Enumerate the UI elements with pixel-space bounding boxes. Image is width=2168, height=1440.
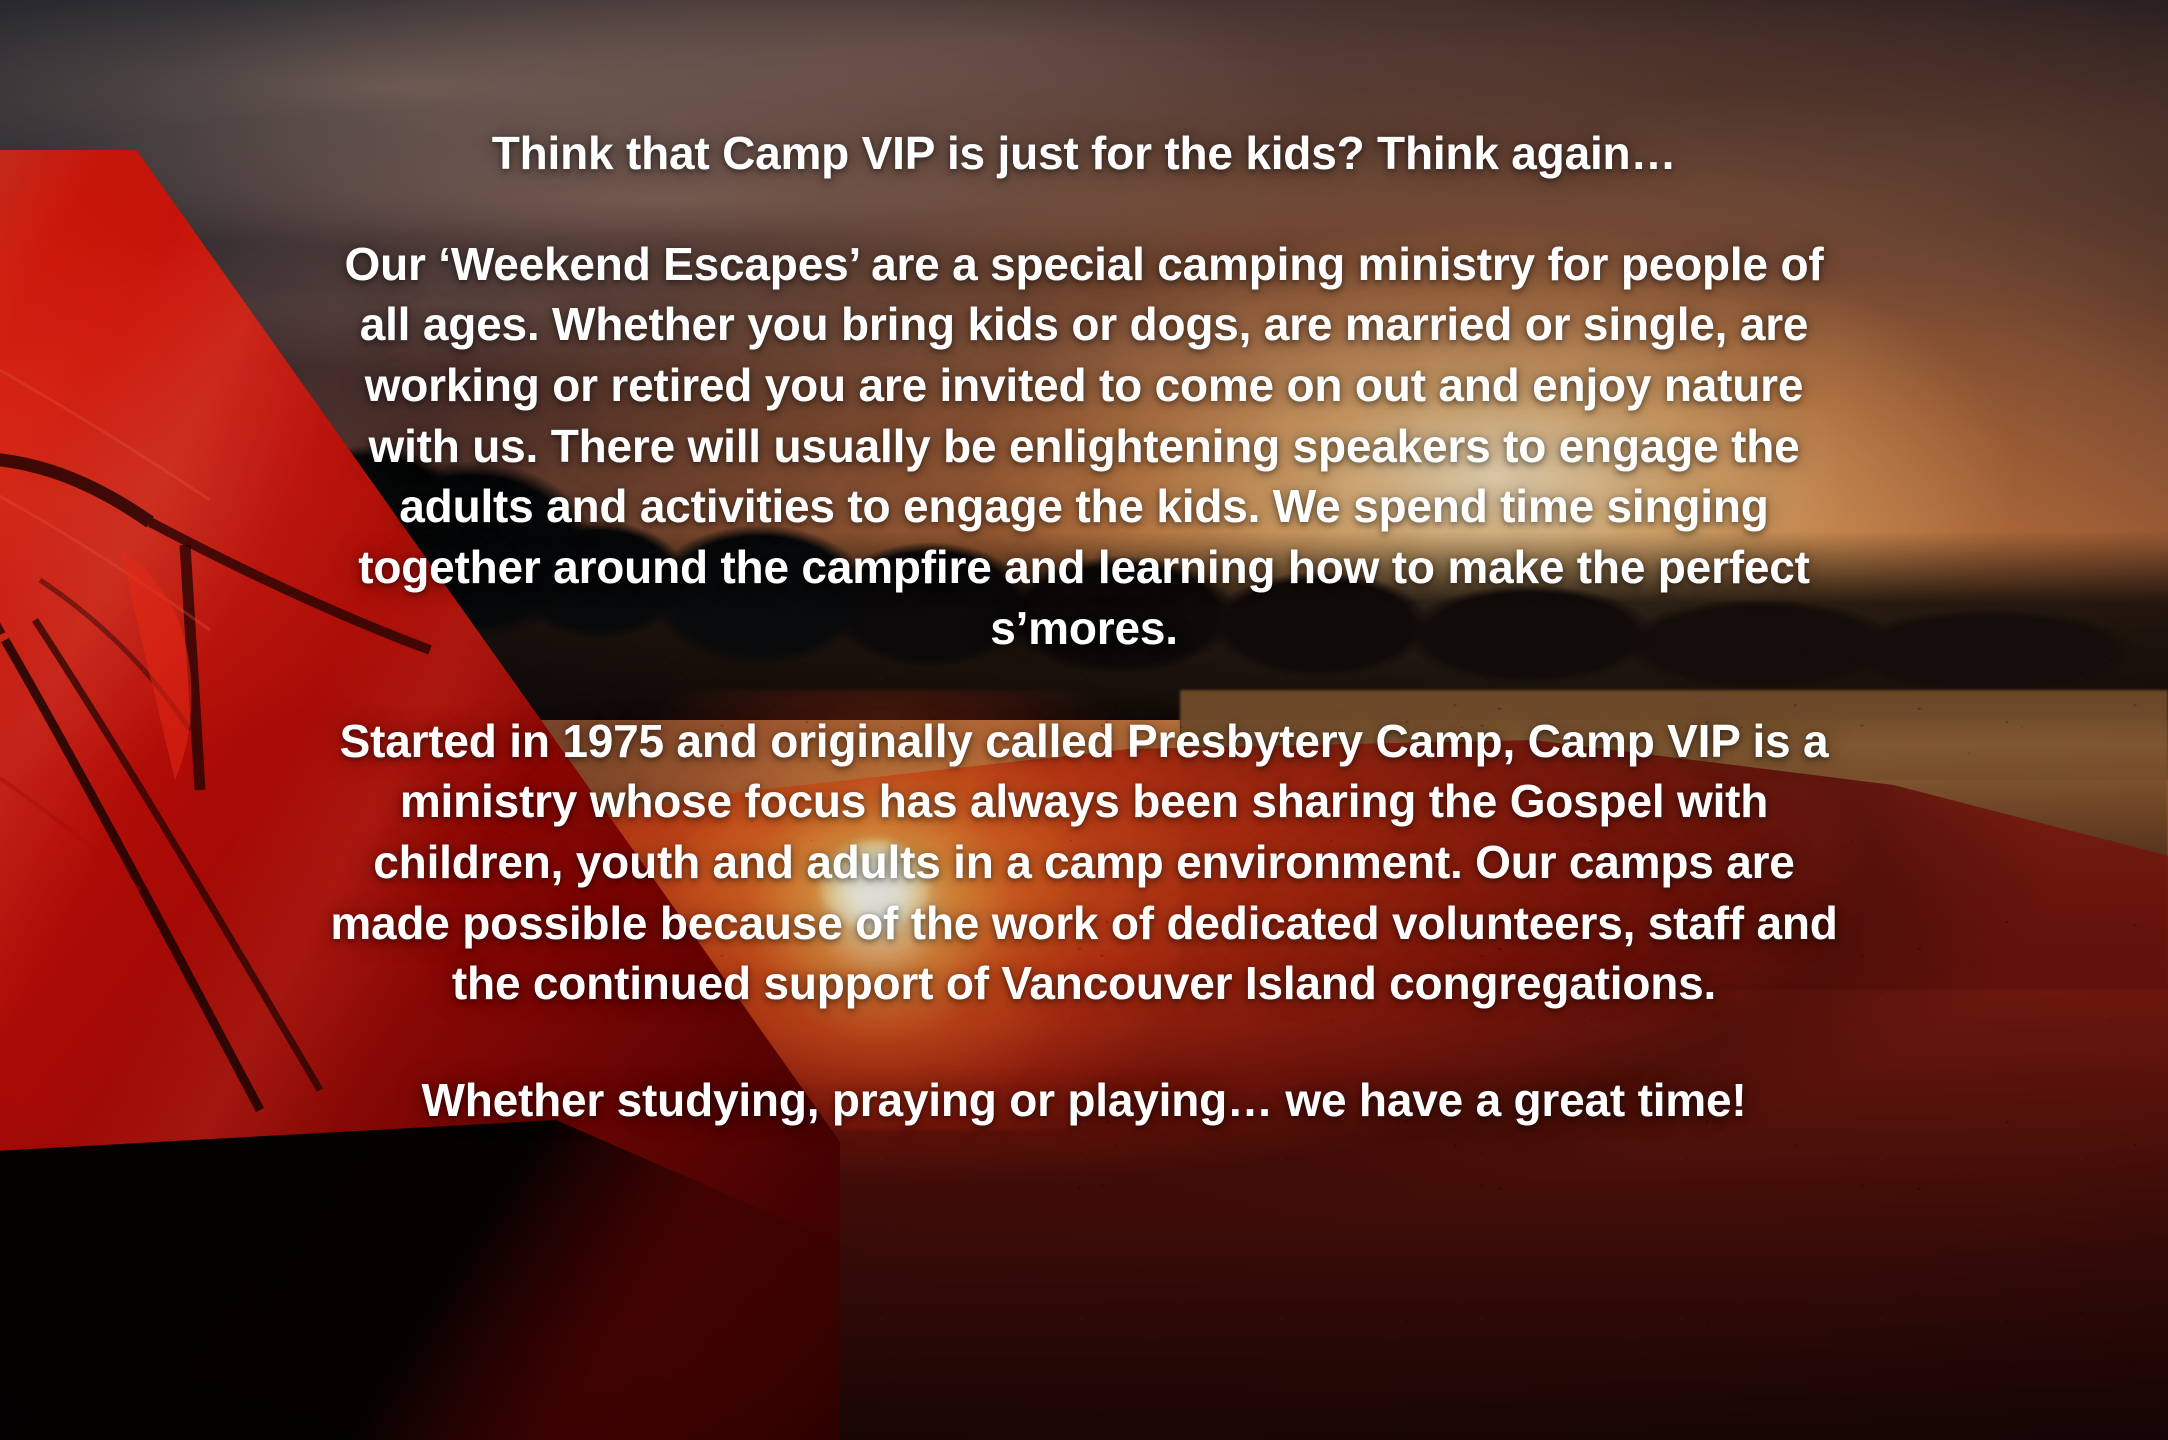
page-title: Think that Camp VIP is just for the kids…: [492, 128, 1677, 180]
body-paragraph-1: Our ‘Weekend Escapes’ are a special camp…: [314, 234, 1854, 659]
slide-copy-block: Think that Camp VIP is just for the kids…: [0, 0, 2168, 1440]
slide-canvas: Think that Camp VIP is just for the kids…: [0, 0, 2168, 1440]
closing-statement: Whether studying, praying or playing… we…: [421, 1070, 1746, 1131]
body-paragraph-2: Started in 1975 and originally called Pr…: [314, 711, 1854, 1015]
